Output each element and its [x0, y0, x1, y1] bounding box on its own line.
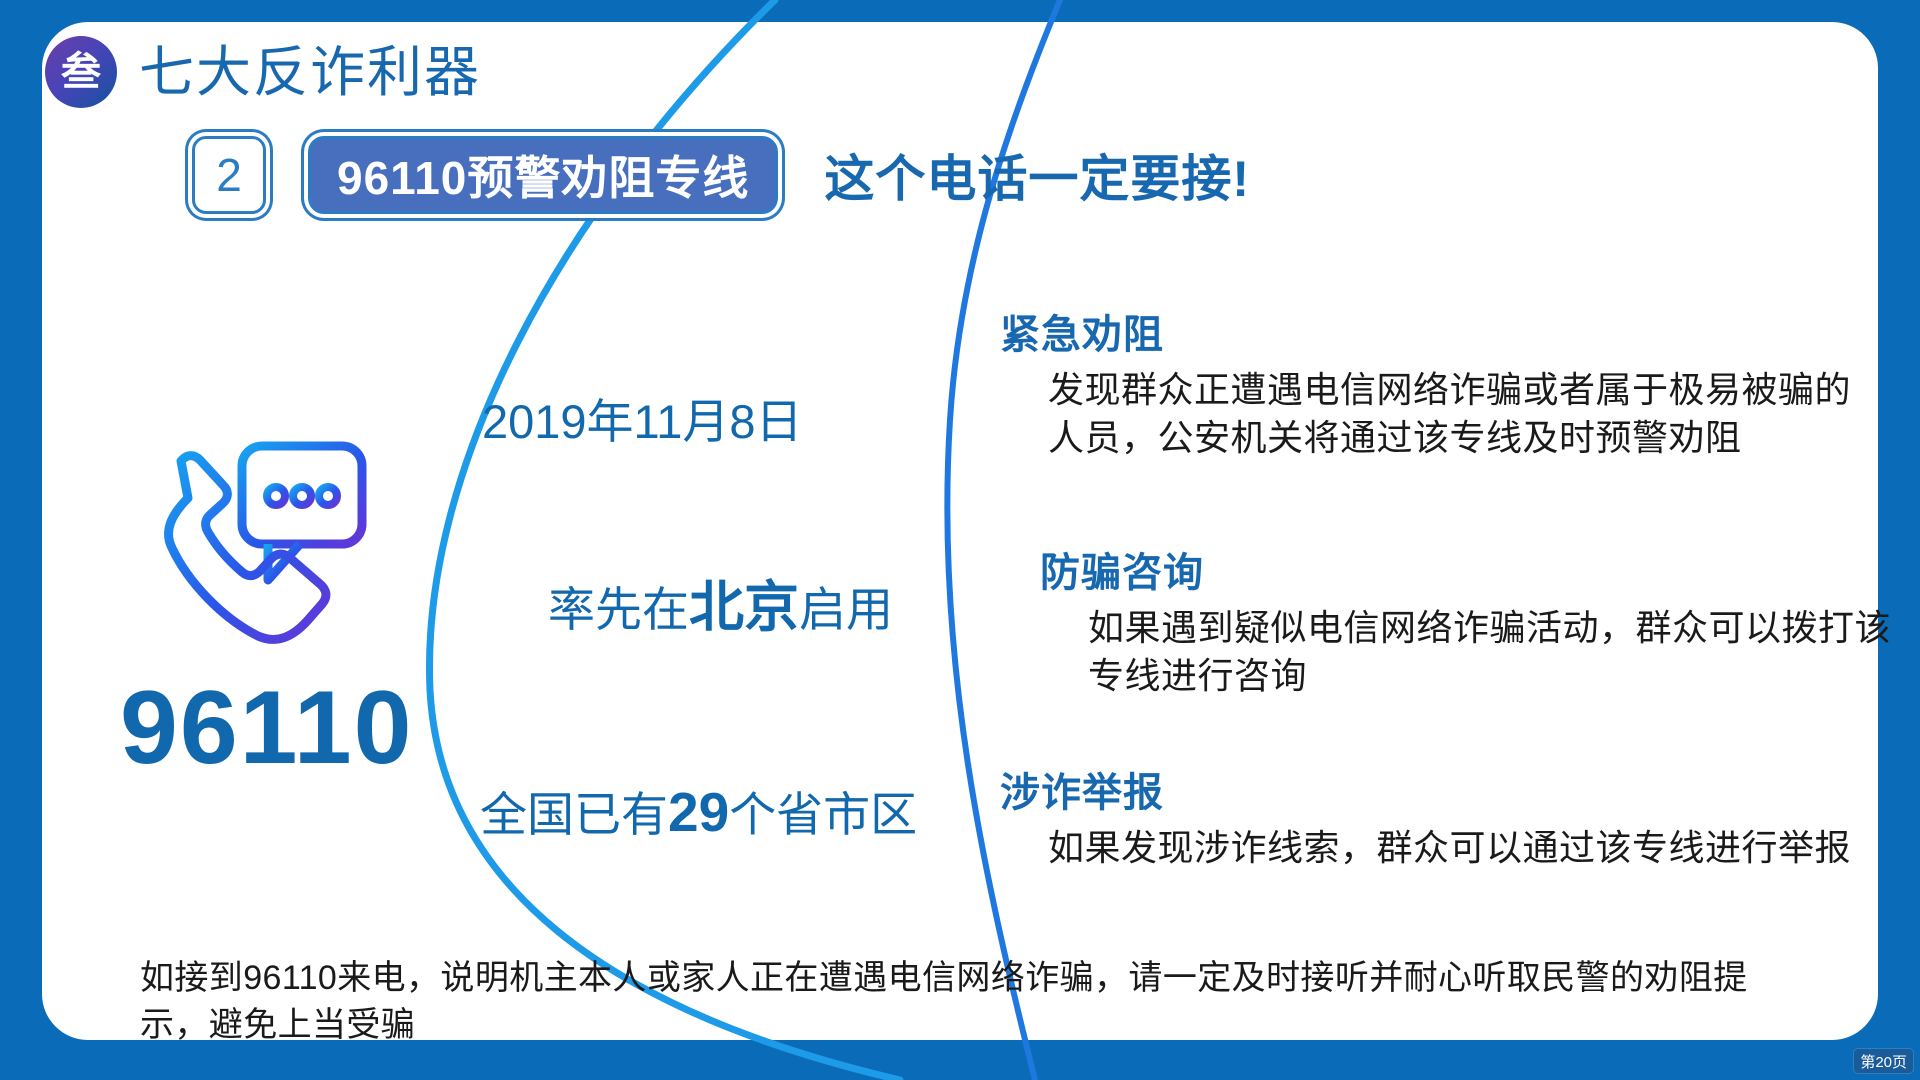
feature-body: 如果遇到疑似电信网络诈骗活动，群众可以拨打该专线进行咨询 — [1088, 604, 1898, 700]
feature-section-fraud-report: 涉诈举报 如果发现涉诈线索，群众可以通过该专线进行举报 — [1000, 770, 1851, 872]
fact-coverage-suffix: 个省市区 — [729, 788, 917, 841]
hotline-pill-label: 96110预警劝阻专线 — [308, 136, 778, 214]
feature-title: 防骗咨询 — [1040, 550, 1898, 596]
feature-section-urgent-dissuasion: 紧急劝阻 发现群众正遭遇电信网络诈骗或者属于极易被骗的人员，公安机关将通过该专线… — [1000, 312, 1858, 462]
item-number-box: 2 — [192, 136, 266, 214]
fact-city-prefix: 率先在 — [548, 583, 689, 636]
footer-note: 如接到96110来电，说明机主本人或家人正在遭遇电信网络诈骗，请一定及时接听并耐… — [140, 955, 1790, 1049]
subsection-row: 2 96110预警劝阻专线 这个电话一定要接! — [192, 136, 1250, 214]
feature-title: 紧急劝阻 — [1000, 312, 1858, 358]
slide-root: 叁 七大反诈利器 2 96110预警劝阻专线 这个电话一定要接! 96110 2… — [0, 0, 1920, 1080]
slide-header: 叁 七大反诈利器 — [45, 36, 481, 108]
fact-city-suffix: 启用 — [799, 583, 893, 636]
fact-line-coverage: 全国已有29个省市区 — [480, 785, 917, 840]
fact-coverage-prefix: 全国已有 — [480, 788, 668, 841]
page-number-badge[interactable]: 第20页 — [1853, 1048, 1914, 1074]
headline-text: 这个电话一定要接! — [824, 139, 1250, 211]
fact-line-date: 2019年11月8日 — [482, 398, 803, 445]
hotline-number: 96110 — [120, 676, 413, 780]
feature-body: 发现群众正遭遇电信网络诈骗或者属于极易被骗的人员，公安机关将通过该专线及时预警劝… — [1048, 366, 1858, 462]
feature-title: 涉诈举报 — [1000, 770, 1851, 816]
phone-chat-icon — [150, 440, 370, 655]
fact-line-city: 率先在北京启用 — [548, 580, 893, 635]
feature-body: 如果发现涉诈线索，群众可以通过该专线进行举报 — [1048, 824, 1851, 872]
fact-city-emphasis: 北京 — [689, 576, 799, 638]
page-title: 七大反诈利器 — [139, 45, 481, 100]
section-number-badge: 叁 — [45, 36, 117, 108]
feature-section-fraud-consultation: 防骗咨询 如果遇到疑似电信网络诈骗活动，群众可以拨打该专线进行咨询 — [1040, 550, 1898, 700]
fact-coverage-emphasis: 29 — [668, 781, 729, 843]
